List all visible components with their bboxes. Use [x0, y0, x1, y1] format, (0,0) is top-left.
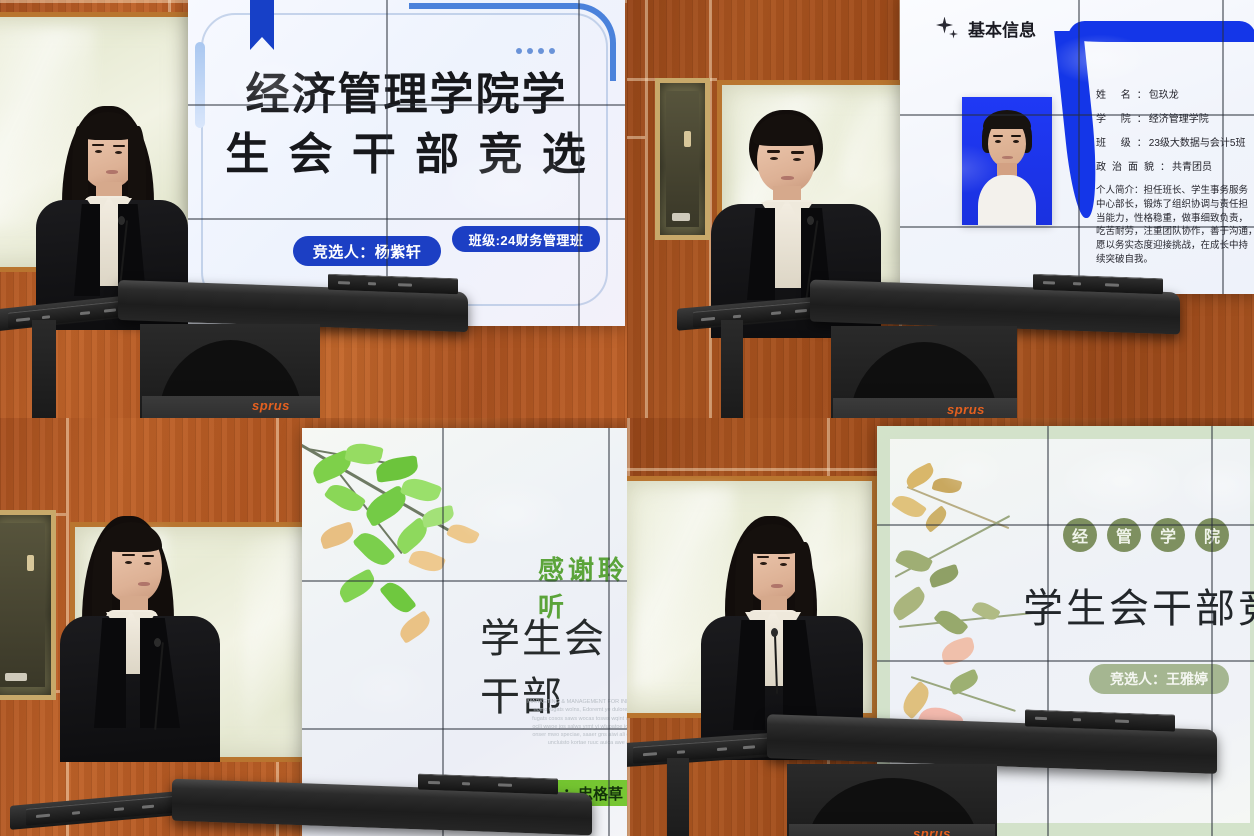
wall-cabinet	[655, 78, 710, 240]
podium-brand: sprus	[913, 826, 951, 836]
row-sep: ：	[1137, 110, 1147, 125]
classroom-scene-bl: 感谢聆听 学生会干部 MARKETING & MANAGEMENT FOR IN…	[0, 418, 627, 836]
panel-top-left: 经济管理学院学 生 会 干 部 竞 选 竞选人：杨紫轩 班级:24财务管理班	[0, 0, 627, 418]
row-key: 学 院	[1096, 110, 1137, 125]
bio-line: 个人简介：担任班长、学生事务服务	[1096, 184, 1254, 198]
classroom-scene-tr: 基本信息	[627, 0, 1254, 418]
slide-main-title: 学生会干部竞选	[1023, 576, 1254, 634]
row-sep: ：	[1160, 158, 1170, 173]
bio-line: 愿以务实态度迎接挑战，在成长中持	[1096, 239, 1254, 253]
bio-line: 当能力，性格稳重，做事细致负责，	[1096, 212, 1254, 226]
classroom-scene-br: 经 管 学 院 学生会干部竞选 竞选人：王雅婷	[627, 418, 1254, 836]
bio-line: 续突破自我。	[1096, 253, 1254, 267]
sparkle-icon	[936, 17, 960, 41]
lectern-podium-br: sprus	[627, 706, 1254, 836]
row-value: 经济管理学院	[1149, 110, 1209, 125]
candidate-badge: 竞选人：王雅婷	[1089, 664, 1229, 694]
row-key: 政治面貌	[1096, 158, 1160, 173]
row-value: 包玖龙	[1149, 86, 1179, 101]
slide-basic-info: 基本信息	[900, 0, 1254, 294]
slide-title-line2: 生 会 干 部 竞 选	[188, 118, 625, 182]
row-key: 姓 名	[1096, 86, 1137, 101]
row-value: 23级大数据与会计5班	[1149, 134, 1246, 149]
podium-brand: sprus	[947, 402, 985, 417]
video-wall-screen-tr: 基本信息	[900, 0, 1254, 294]
row-sep: ：	[1137, 134, 1147, 149]
slide-title-line1: 经济管理学院学	[188, 58, 625, 122]
row-value: 共青团员	[1172, 158, 1212, 173]
podium-brand: sprus	[252, 398, 290, 413]
panel-bottom-left: 感谢聆听 学生会干部 MARKETING & MANAGEMENT FOR IN…	[0, 418, 627, 836]
candidate-badge: 竞选人：杨紫轩	[293, 236, 441, 266]
slide-header: 基本信息	[936, 16, 1036, 41]
lectern-podium-tl: sprus	[0, 268, 530, 418]
bio-line: 中心部长，锻炼了组织协调与责任担	[1096, 198, 1254, 212]
panel-bottom-right: 经 管 学 院 学生会干部竞选 竞选人：王雅婷	[627, 418, 1254, 836]
id-photo	[962, 97, 1052, 225]
photo-collage: 经济管理学院学 生 会 干 部 竞 选 竞选人：杨紫轩 班级:24财务管理班	[0, 0, 1254, 836]
row-sep: ：	[1137, 86, 1147, 101]
classroom-scene-tl: 经济管理学院学 生 会 干 部 竞 选 竞选人：杨紫轩 班级:24财务管理班	[0, 0, 627, 418]
slide-header-text: 基本信息	[968, 16, 1036, 41]
four-dots-icon	[516, 48, 555, 54]
female-speaker-2	[48, 510, 238, 760]
row-key: 班 级	[1096, 134, 1137, 149]
lectern-podium-bl	[0, 764, 620, 836]
panel-top-right: 基本信息	[627, 0, 1254, 418]
lectern-podium-tr: sprus	[655, 272, 1254, 418]
